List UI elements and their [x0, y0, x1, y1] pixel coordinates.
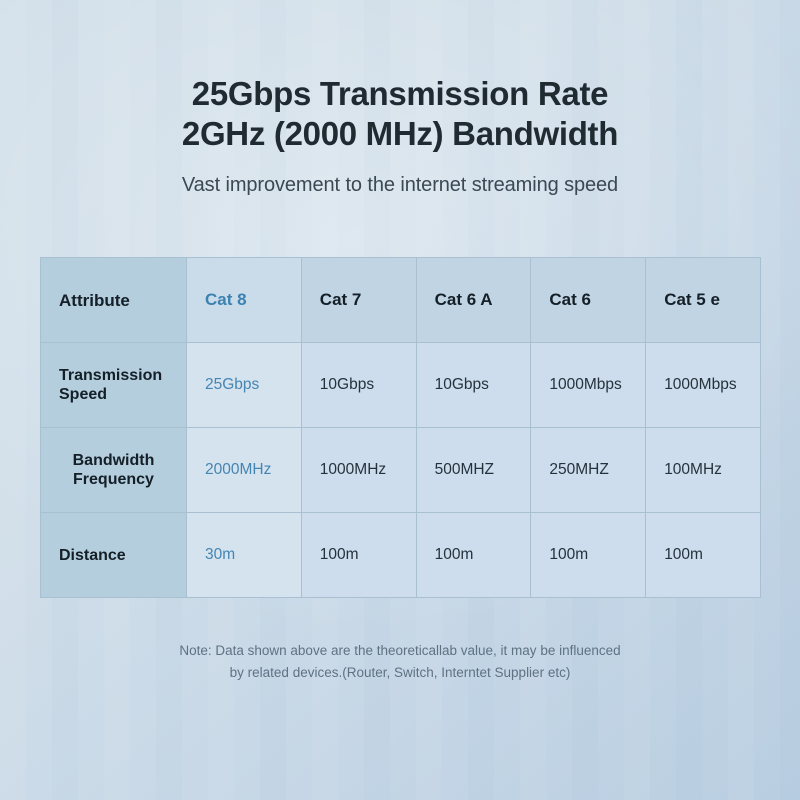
cell-distance-cat-6: 100m: [531, 513, 646, 598]
table-row: Distance 30m 100m 100m 100m 100m: [41, 513, 761, 598]
cell-distance-cat-8: 30m: [187, 513, 302, 598]
footnote-line-2: by related devices.(Router, Switch, Inte…: [0, 662, 800, 684]
footnote-line-1: Note: Data shown above are the theoretic…: [0, 640, 800, 662]
table-row: Bandwidth Frequency 2000MHz 1000MHz 500M…: [41, 428, 761, 513]
footnote: Note: Data shown above are the theoretic…: [0, 640, 800, 684]
cell-bandwidth-frequency-cat-5e: 100MHz: [646, 428, 761, 513]
table-row: Transmission Speed 25Gbps 10Gbps 10Gbps …: [41, 343, 761, 428]
cell-transmission-speed-cat-8: 25Gbps: [187, 343, 302, 428]
cell-transmission-speed-cat-6a: 10Gbps: [416, 343, 531, 428]
row-label-transmission-speed: Transmission Speed: [41, 343, 187, 428]
cell-transmission-speed-cat-7: 10Gbps: [301, 343, 416, 428]
headline-line-1: 25Gbps Transmission Rate: [0, 74, 800, 114]
column-header-cat-7: Cat 7: [301, 258, 416, 343]
cell-bandwidth-frequency-cat-8: 2000MHz: [187, 428, 302, 513]
spec-comparison-table: Attribute Cat 8 Cat 7 Cat 6 A Cat 6 Cat …: [40, 257, 761, 598]
column-header-attribute: Attribute: [41, 258, 187, 343]
column-header-cat-8: Cat 8: [187, 258, 302, 343]
cell-distance-cat-5e: 100m: [646, 513, 761, 598]
column-header-cat-6: Cat 6: [531, 258, 646, 343]
row-label-bandwidth-frequency: Bandwidth Frequency: [41, 428, 187, 513]
cell-transmission-speed-cat-6: 1000Mbps: [531, 343, 646, 428]
cell-bandwidth-frequency-cat-6: 250MHZ: [531, 428, 646, 513]
cell-distance-cat-7: 100m: [301, 513, 416, 598]
cell-bandwidth-frequency-cat-7: 1000MHz: [301, 428, 416, 513]
cell-distance-cat-6a: 100m: [416, 513, 531, 598]
table-header-row: Attribute Cat 8 Cat 7 Cat 6 A Cat 6 Cat …: [41, 258, 761, 343]
infographic-page: 25Gbps Transmission Rate 2GHz (2000 MHz)…: [0, 0, 800, 800]
cell-bandwidth-frequency-cat-6a: 500MHZ: [416, 428, 531, 513]
header-block: 25Gbps Transmission Rate 2GHz (2000 MHz)…: [0, 74, 800, 198]
row-label-distance: Distance: [41, 513, 187, 598]
headline-line-2: 2GHz (2000 MHz) Bandwidth: [0, 114, 800, 154]
subtitle: Vast improvement to the internet streami…: [0, 172, 800, 198]
row-label-bandwidth-frequency-text: Bandwidth Frequency: [59, 451, 186, 489]
column-header-cat-5e: Cat 5 e: [646, 258, 761, 343]
column-header-cat-6a: Cat 6 A: [416, 258, 531, 343]
cell-transmission-speed-cat-5e: 1000Mbps: [646, 343, 761, 428]
